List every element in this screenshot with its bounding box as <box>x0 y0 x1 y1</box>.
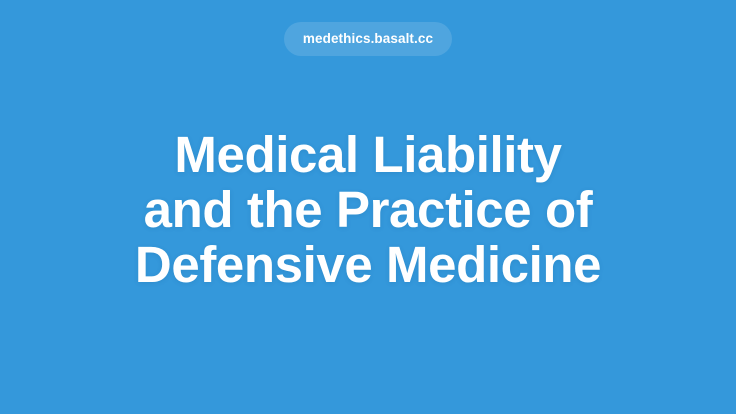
page-title: Medical Liability and the Practice of De… <box>135 127 601 292</box>
page-title-line-2: and the Practice of <box>135 182 601 237</box>
page-title-line-1: Medical Liability <box>135 127 601 182</box>
url-pill[interactable]: medethics.basalt.cc <box>284 22 452 56</box>
url-badge-container: medethics.basalt.cc <box>0 22 736 56</box>
page-title-line-3: Defensive Medicine <box>135 237 601 292</box>
title-card-slide: medethics.basalt.cc Medical Liability an… <box>0 0 736 414</box>
headline-container: Medical Liability and the Practice of De… <box>0 56 736 414</box>
url-pill-label: medethics.basalt.cc <box>303 32 433 46</box>
